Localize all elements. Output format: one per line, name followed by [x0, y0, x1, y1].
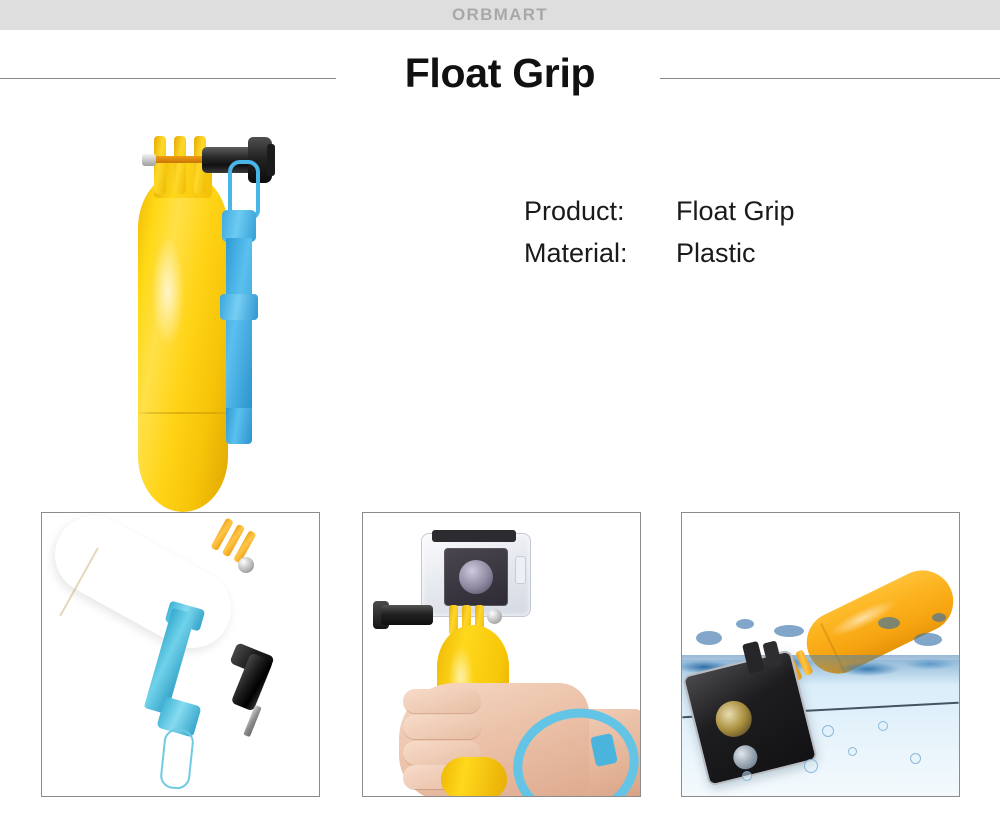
camera-housing-latch-bar [432, 530, 516, 542]
thumbscrew-tip [142, 154, 156, 166]
bubble [804, 759, 818, 773]
bubble [822, 725, 834, 737]
spec-row-material: Material: Plastic [524, 232, 795, 274]
bubble [848, 747, 857, 756]
bubble [910, 753, 921, 764]
camera-lens-icon [712, 697, 756, 741]
thumbscrew-shaft [381, 605, 433, 625]
mount-screw-ball [238, 557, 254, 573]
gallery-panel-floating-in-water [681, 512, 960, 797]
hero-product-image [118, 112, 298, 462]
splash-droplet [914, 633, 942, 646]
spec-row-product: Product: Float Grip [524, 190, 795, 232]
brand-band: ORBMART [0, 0, 1000, 30]
splash-droplet [774, 625, 804, 637]
thumbscrew-pin [243, 705, 261, 737]
finger [403, 689, 481, 713]
wrist-strap-buckle [220, 294, 258, 320]
splash-droplet [932, 613, 946, 622]
spec-value: Plastic [676, 232, 756, 274]
camera-body [444, 548, 508, 606]
gallery-panel-kit-contents [41, 512, 320, 797]
camera-shutter-button [731, 743, 760, 772]
splash-droplet [736, 619, 754, 629]
float-seam-line [138, 412, 228, 414]
mount-screw-ball [487, 609, 502, 624]
wrist-strap-loop [159, 728, 195, 791]
bubble [742, 771, 752, 781]
brand-name: ORBMART [0, 0, 1000, 30]
page-title: Float Grip [0, 50, 1000, 97]
mount-axle [150, 156, 210, 163]
gallery-panel-in-hand-with-camera [362, 512, 641, 797]
finger [403, 715, 481, 739]
spec-list: Product: Float Grip Material: Plastic [524, 190, 795, 274]
mount-prong-icon [174, 136, 186, 194]
mount-prongs [205, 516, 266, 575]
bubble [878, 721, 888, 731]
wrist-strap-tail [226, 408, 252, 444]
splash-droplet [696, 631, 722, 645]
camera-housing-side-latch [515, 556, 526, 584]
wrist-strap-webbing [226, 238, 252, 410]
spec-key: Product: [524, 190, 676, 232]
camera-lens-icon [459, 560, 493, 594]
splash-droplet [878, 617, 900, 629]
title-row: Float Grip [0, 50, 1000, 110]
spec-key: Material: [524, 232, 676, 274]
float-bottom [441, 757, 507, 797]
float-body [138, 172, 228, 512]
mount-prong-icon [154, 136, 166, 194]
spec-value: Float Grip [676, 190, 795, 232]
